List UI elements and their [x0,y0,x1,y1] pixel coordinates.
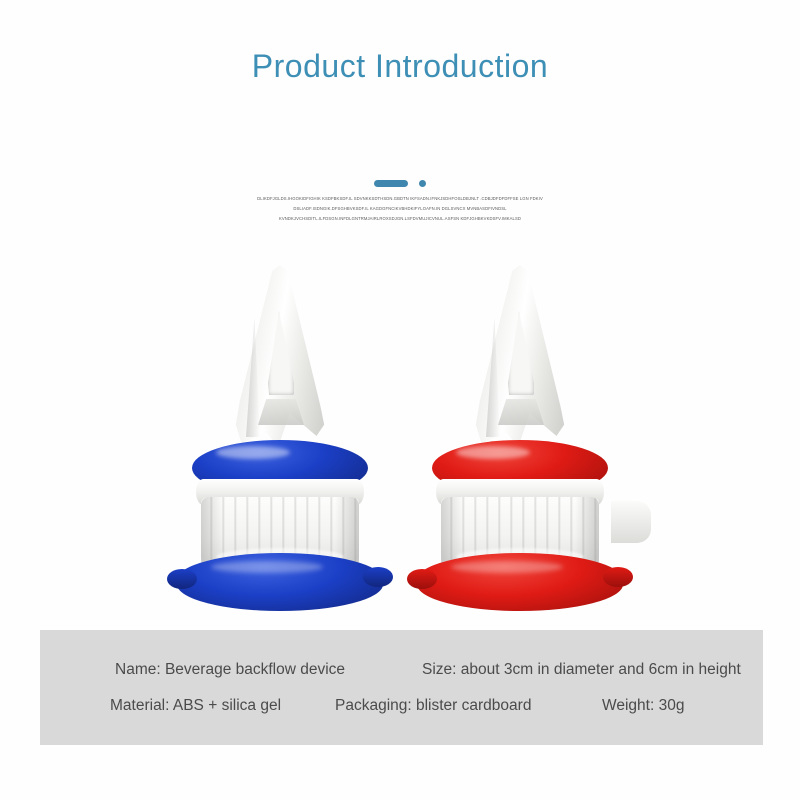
nozzle-spike-icon [472,265,568,455]
spec-row-2: Material: ABS + silica gel Packaging: bl… [40,688,763,724]
intro-line-3: KVNDKJVCHSDITL.ILFDSGN.INFDLGNTRMJAIRLRO… [0,214,800,224]
specification-panel: Name: Beverage backflow device Size: abo… [40,630,763,745]
base-flange-blue [177,553,383,611]
spec-row-1: Name: Beverage backflow device Size: abo… [40,652,763,688]
product-introduction-page: Product Introduction DLIKDFJGLDS.IHGOKID… [0,0,800,800]
spec-packaging: Packaging: blister cardboard [335,697,531,715]
base-flange-red [417,553,623,611]
base-gloss [211,561,323,573]
spec-name: Name: Beverage backflow device [115,661,345,679]
pagination-active-indicator[interactable] [374,180,408,187]
spec-material: Material: ABS + silica gel [110,697,281,715]
base-tab-right [603,567,633,587]
intro-paragraph: DLIKDFJGLDS.IHGOKIDFIGHIK KSDFBKSDF.IL S… [0,194,800,224]
product-showcase [0,255,800,615]
page-title: Product Introduction [0,48,800,85]
intro-line-1: DLIKDFJGLDS.IHGOKIDFIGHIK KSDFBKSDF.IL S… [0,194,800,204]
ring-gloss [216,446,290,459]
side-spout [611,501,651,543]
base-tab-right [363,567,393,587]
intro-line-2: DSLIADF.ISDNGIK.DFSGHBVKSDF.IL KAGDGFNCI… [0,204,800,214]
spec-weight: Weight: 30g [602,697,684,715]
base-tab-left [407,569,437,589]
header-section: Product Introduction DLIKDFJGLDS.IHGOKID… [0,0,800,240]
base-tab-left [167,569,197,589]
nozzle-spike-icon [232,265,328,455]
product-image-red[interactable] [405,265,635,605]
ring-gloss [456,446,530,459]
base-gloss [451,561,563,573]
product-image-blue[interactable] [165,265,395,605]
pagination-inactive-dot[interactable] [419,180,426,187]
spec-size: Size: about 3cm in diameter and 6cm in h… [422,661,741,679]
carousel-pagination[interactable] [0,180,800,187]
